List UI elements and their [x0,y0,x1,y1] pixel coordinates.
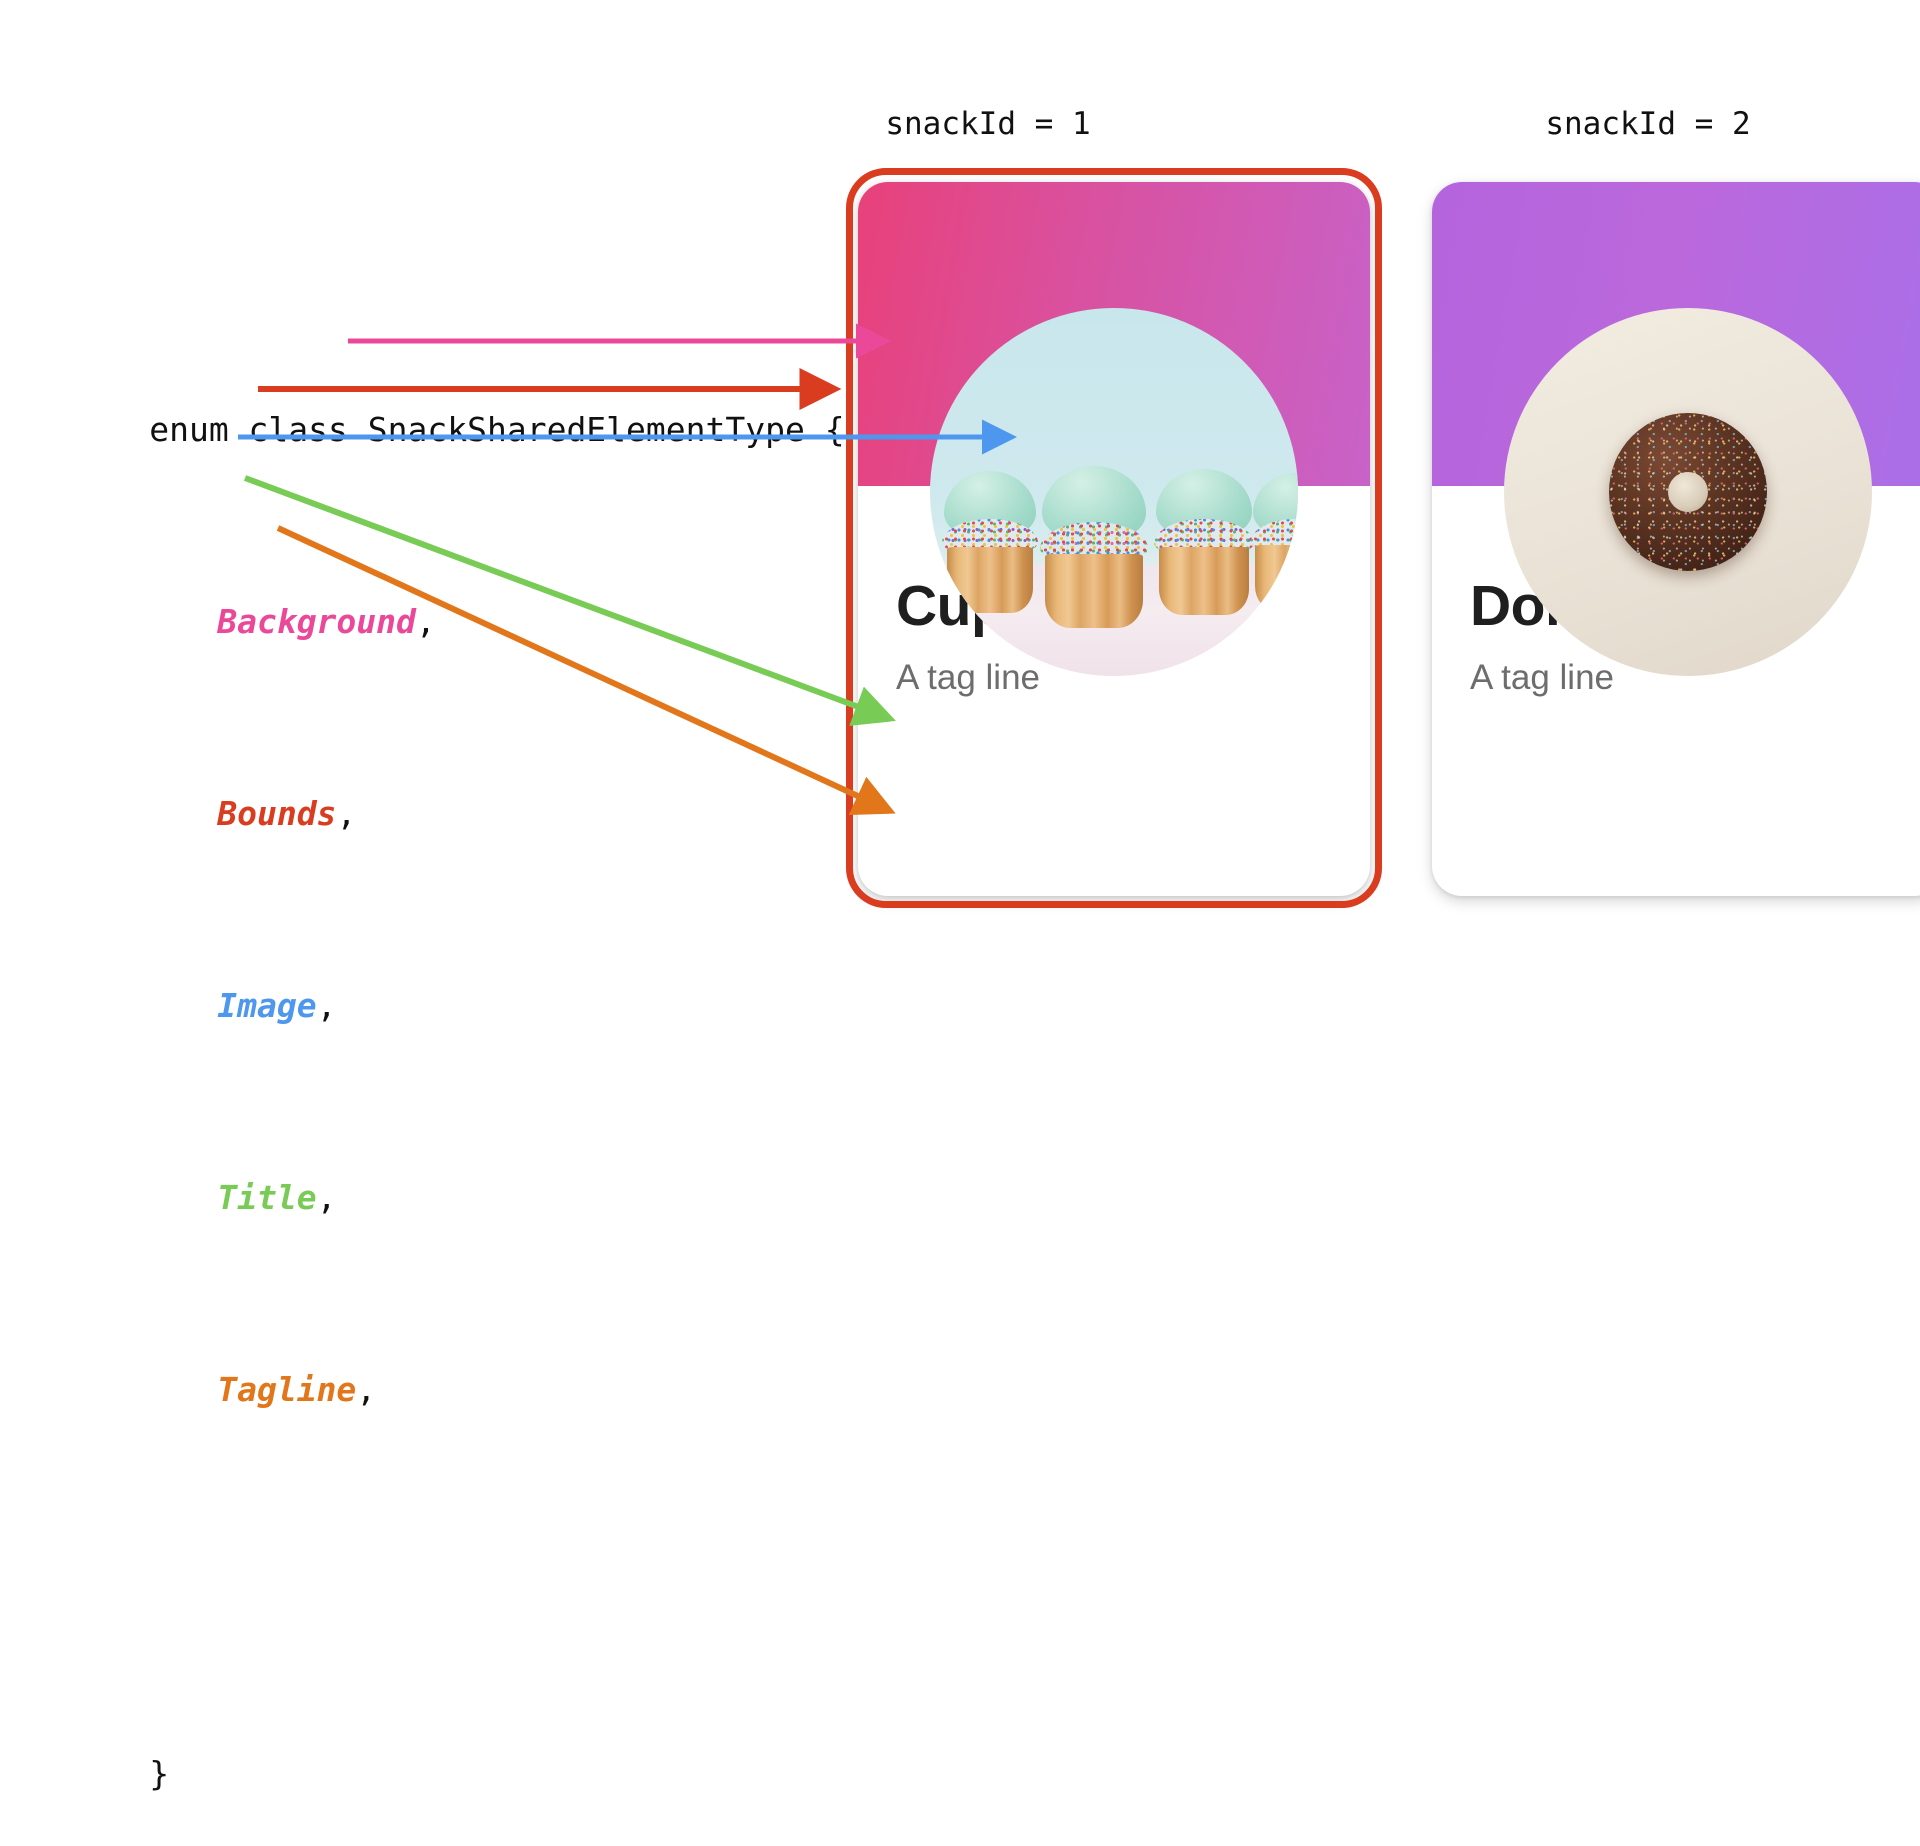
cupcake-3 [1148,465,1260,617]
card-image-cupcake [930,308,1298,676]
snack-id-label-2: snackId = 2 [1545,106,1750,142]
code-line-tagline: Tagline, [30,1318,845,1366]
snack-card-cupcake[interactable]: Cupcake A tag line [858,182,1370,896]
enum-entry-bounds: Bounds [217,794,336,833]
code-line-image: Image, [30,934,845,982]
donut-hole [1668,472,1708,512]
code-line-title: Title, [30,1126,845,1174]
code-blank-line [30,1510,845,1558]
diagram-canvas: enum class SnackSharedElementType { Back… [0,0,1920,1080]
code-line-footer: } [30,1702,845,1750]
cupcake-liner [947,547,1033,613]
code-footer-text: } [149,1754,169,1793]
code-line-background: Background, [30,550,845,598]
enum-entry-title: Title [217,1178,316,1217]
cupcake-2 [1034,466,1154,632]
cupcake-4 [1248,467,1298,617]
code-comma-background: , [416,602,436,641]
enum-entry-image: Image [217,986,316,1025]
cupcake-1 [936,467,1044,617]
code-snippet: enum class SnackSharedElementType { Back… [30,262,845,1846]
code-line-bounds: Bounds, [30,742,845,790]
cupcake-photo [930,308,1298,676]
code-comma-image: , [317,986,337,1025]
code-header-text: enum class SnackSharedElementType { [149,410,844,449]
snack-id-label-1: snackId = 1 [885,106,1090,142]
cupcake-liner [1255,545,1298,611]
enum-entry-tagline: Tagline [217,1370,356,1409]
card-image-donut [1504,308,1872,676]
code-line-header: enum class SnackSharedElementType { [30,358,845,406]
snack-card-donut[interactable]: Donut A tag line [1432,182,1920,896]
code-comma-title: , [317,1178,337,1217]
cupcake-liner [1159,547,1249,615]
donut-photo [1504,308,1872,676]
cupcake-liner [1045,554,1143,628]
code-comma-bounds: , [336,794,356,833]
code-comma-tagline: , [356,1370,376,1409]
enum-entry-background: Background [217,602,416,641]
